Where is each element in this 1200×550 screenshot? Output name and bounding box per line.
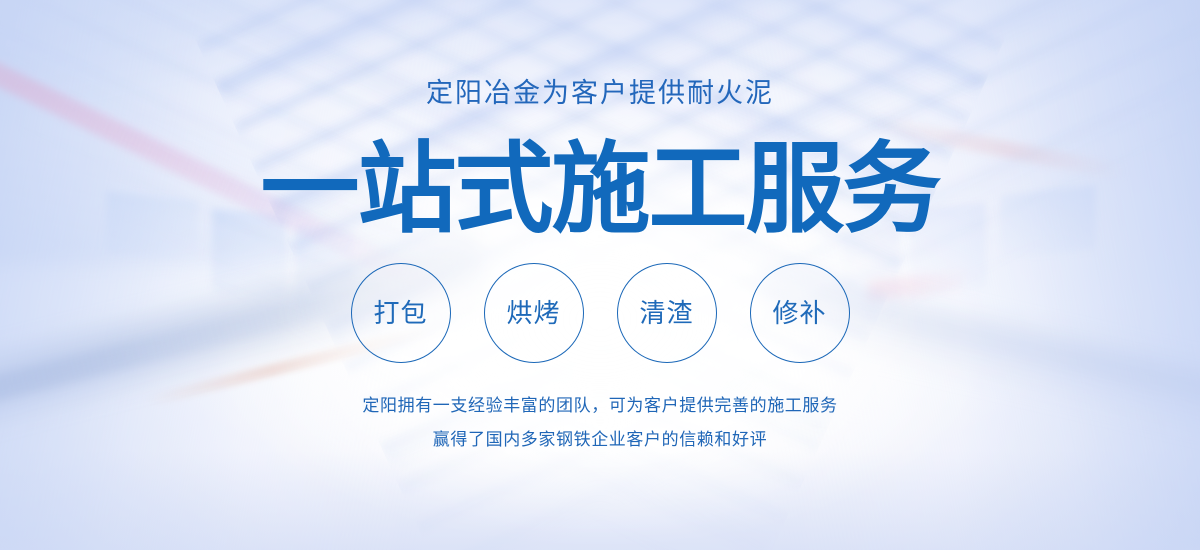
service-badge-label: 清渣 xyxy=(639,300,693,326)
service-badge-repair[interactable]: 修补 xyxy=(750,263,850,363)
banner-tagline-secondary: 赢得了国内多家钢铁企业客户的信赖和好评 xyxy=(0,431,1200,448)
service-badge-label: 烘烤 xyxy=(506,300,560,326)
service-badge-label: 打包 xyxy=(373,300,427,326)
banner-subtitle: 定阳冶金为客户提供耐火泥 xyxy=(0,80,1200,107)
service-badge-baking[interactable]: 烘烤 xyxy=(484,263,584,363)
banner-tagline-primary: 定阳拥有一支经验丰富的团队，可为客户提供完善的施工服务 xyxy=(0,397,1200,414)
promo-banner: 定阳冶金为客户提供耐火泥 一站式施工服务 打包 烘烤 清渣 修补 定阳拥有一支经… xyxy=(0,0,1200,550)
service-badge-label: 修补 xyxy=(772,300,826,326)
banner-headline: 一站式施工服务 xyxy=(0,139,1200,238)
banner-content: 定阳冶金为客户提供耐火泥 一站式施工服务 打包 烘烤 清渣 修补 定阳拥有一支经… xyxy=(0,0,1200,550)
service-badge-packing[interactable]: 打包 xyxy=(351,263,451,363)
service-badge-slag-cleaning[interactable]: 清渣 xyxy=(617,263,717,363)
service-badge-row: 打包 烘烤 清渣 修补 xyxy=(0,263,1200,363)
